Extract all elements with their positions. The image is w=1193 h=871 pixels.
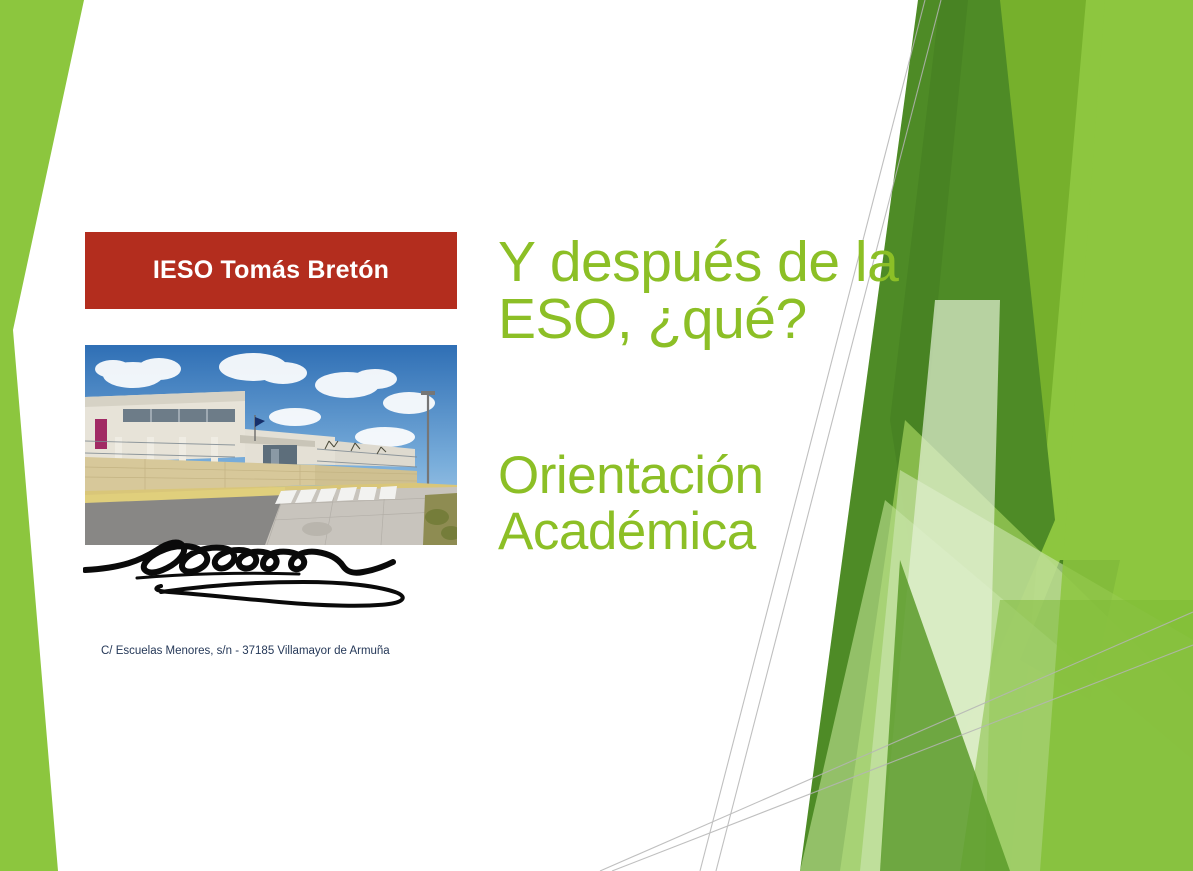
slide-title: Y después de la ESO, ¿qué? <box>498 234 918 348</box>
school-signature-mark <box>83 530 463 615</box>
presentation-slide: IESO Tomás Bretón <box>0 0 1193 871</box>
school-name-banner: IESO Tomás Bretón <box>85 232 457 309</box>
left-chevron-shape <box>0 0 84 871</box>
school-address-label: C/ Escuelas Menores, s/n - 37185 Villama… <box>101 645 461 657</box>
title-area: Y después de la ESO, ¿qué? Orientación A… <box>498 234 918 559</box>
school-name-label: IESO Tomás Bretón <box>153 256 389 285</box>
slide-subtitle: Orientación Académica <box>498 348 918 559</box>
school-building-photo <box>85 345 457 545</box>
school-identity-block: IESO Tomás Bretón <box>85 232 457 309</box>
